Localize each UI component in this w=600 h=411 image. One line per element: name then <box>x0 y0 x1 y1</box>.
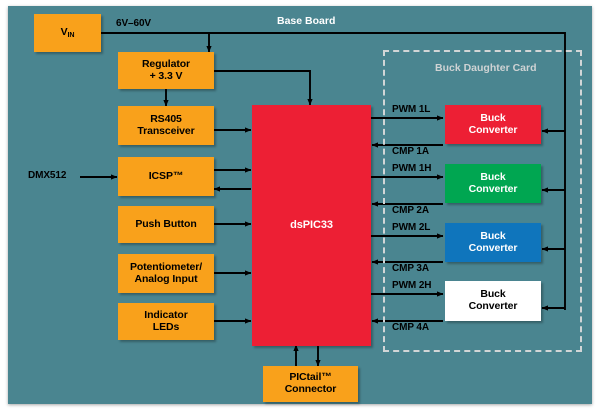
label-cmp-4a: CMP 4A <box>392 322 429 333</box>
buck-2-line2: Converter <box>469 184 518 196</box>
buck-1-line2: Converter <box>469 125 518 137</box>
block-rs405-transceiver[interactable]: RS405 Transceiver <box>118 106 214 145</box>
block-rs405-line1: RS405 <box>150 114 182 126</box>
block-dspic33[interactable]: dsPIC33 <box>252 105 371 346</box>
buck-3-line1: Buck <box>480 231 505 243</box>
block-buck-converter-4[interactable]: Buck Converter <box>445 281 541 321</box>
buck-1-line1: Buck <box>480 113 505 125</box>
block-dspic33-label: dsPIC33 <box>290 219 333 231</box>
block-indicator-leds-line1: Indicator <box>144 310 187 322</box>
base-board-title: Base Board <box>277 15 335 27</box>
label-voltage-rail: 6V–60V <box>116 18 151 29</box>
block-pictail-connector[interactable]: PICtail™ Connector <box>263 366 358 402</box>
label-cmp-2a: CMP 2A <box>392 205 429 216</box>
block-icsp[interactable]: ICSP™ <box>118 157 214 196</box>
block-regulator[interactable]: Regulator + 3.3 V <box>118 52 214 89</box>
block-potentiometer-line1: Potentiometer/ <box>130 262 202 274</box>
block-potentiometer[interactable]: Potentiometer/ Analog Input <box>118 254 214 293</box>
block-diagram: Base Board Buck Daughter Card VIN Regula… <box>0 0 600 411</box>
label-cmp-1a: CMP 1A <box>392 146 429 157</box>
block-indicator-leds-line2: LEDs <box>153 322 179 334</box>
label-pwm-1h: PWM 1H <box>392 163 431 174</box>
block-indicator-leds[interactable]: Indicator LEDs <box>118 303 214 340</box>
label-cmp-3a: CMP 3A <box>392 263 429 274</box>
label-pwm-2h: PWM 2H <box>392 280 431 291</box>
block-buck-converter-1[interactable]: Buck Converter <box>445 105 541 144</box>
buck-3-line2: Converter <box>469 243 518 255</box>
block-vin[interactable]: VIN <box>34 14 101 52</box>
block-rs405-line2: Transceiver <box>137 126 194 138</box>
block-regulator-line2: + 3.3 V <box>150 71 183 83</box>
block-push-button-label: Push Button <box>135 219 196 231</box>
block-pictail-line2: Connector <box>285 384 337 396</box>
block-push-button[interactable]: Push Button <box>118 206 214 243</box>
block-vin-label: VIN <box>61 27 75 39</box>
block-vin-sublabel: IN <box>67 31 74 39</box>
label-pwm-1l: PWM 1L <box>392 104 430 115</box>
block-potentiometer-line2: Analog Input <box>135 274 198 286</box>
label-dmx512: DMX512 <box>28 170 66 181</box>
block-buck-converter-3[interactable]: Buck Converter <box>445 223 541 262</box>
block-buck-converter-2[interactable]: Buck Converter <box>445 164 541 203</box>
block-icsp-label: ICSP™ <box>149 171 184 183</box>
buck-daughter-card-title: Buck Daughter Card <box>435 62 537 74</box>
label-pwm-2l: PWM 2L <box>392 222 430 233</box>
buck-2-line1: Buck <box>480 172 505 184</box>
block-regulator-line1: Regulator <box>142 59 190 71</box>
buck-4-line2: Converter <box>469 301 518 313</box>
